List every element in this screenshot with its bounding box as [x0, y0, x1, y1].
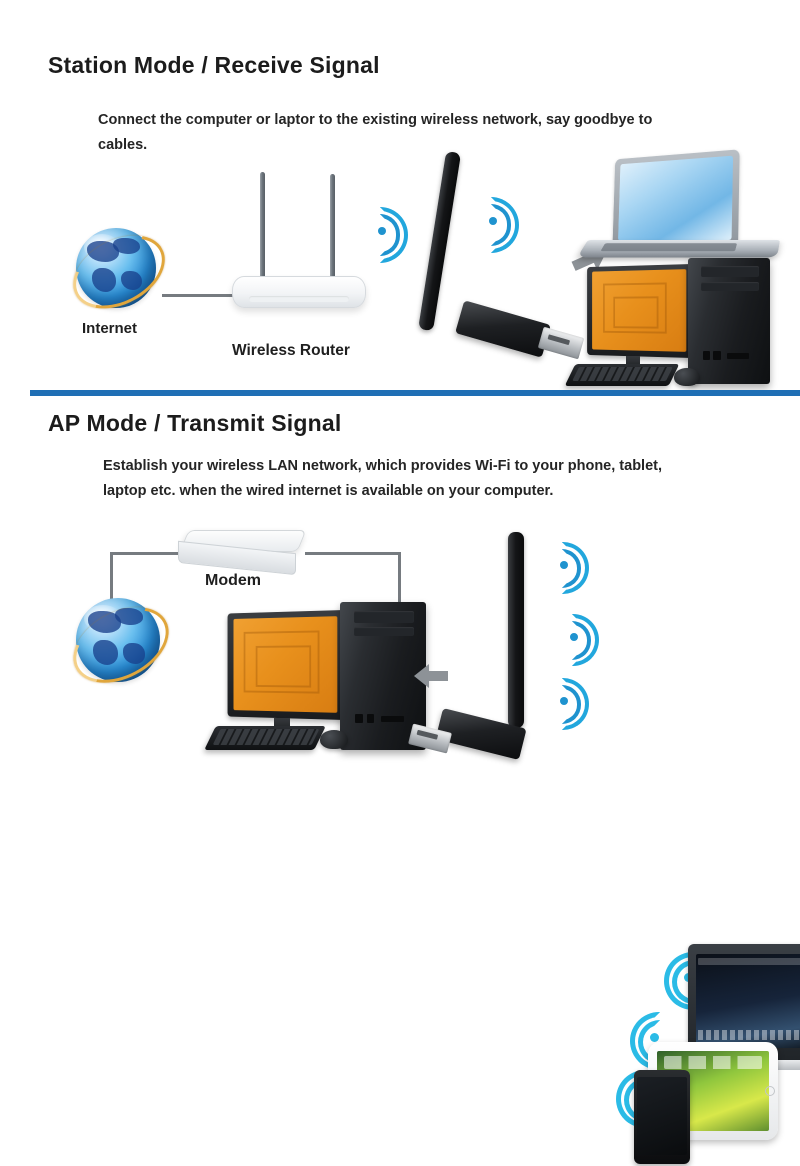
laptop-screen — [618, 156, 733, 241]
desktop-computer — [570, 258, 796, 388]
wifi-signal-devices-top — [646, 952, 690, 1002]
wire-modem-to-pc — [305, 552, 401, 555]
wireless-router — [232, 172, 364, 302]
wifi-signal-adapter-top — [560, 542, 600, 588]
mouse-ap — [320, 730, 348, 749]
router-antenna-left — [260, 172, 265, 282]
label-internet: Internet — [82, 320, 137, 337]
section-body-ap: Establish your wireless LAN network, whi… — [103, 454, 663, 504]
adapter-antenna-ap — [508, 532, 524, 728]
modem — [172, 530, 308, 576]
wifi-signal-adapter-middle — [570, 614, 610, 660]
adapter-body — [455, 300, 551, 357]
laptop — [578, 148, 794, 266]
wifi-signal-adapter-bottom — [560, 678, 600, 724]
monitor-screen — [592, 269, 686, 352]
keyboard — [565, 364, 680, 386]
globe-internet-icon — [70, 222, 162, 314]
section-ap-mode: AP Mode / Transmit Signal Establish your… — [0, 392, 800, 800]
monitor-screen-ap — [233, 616, 337, 713]
mouse — [674, 368, 700, 386]
router-antenna-right — [330, 174, 335, 282]
adapter-antenna — [418, 151, 461, 331]
computer-tower — [688, 258, 770, 384]
phone-screen — [637, 1077, 687, 1155]
wire-internet-to-router — [162, 294, 234, 297]
router-body — [232, 276, 366, 308]
usb-wifi-adapter — [400, 150, 580, 370]
globe-internet-icon-ap — [70, 592, 166, 688]
label-wireless-router: Wireless Router — [232, 342, 350, 360]
label-modem: Modem — [205, 572, 261, 590]
keyboard-ap — [204, 726, 326, 750]
usb-wifi-adapter-ap — [400, 532, 550, 762]
section-station-mode: Station Mode / Receive Signal Connect th… — [0, 0, 800, 392]
smartphone — [634, 1070, 690, 1166]
section-heading-station: Station Mode / Receive Signal — [48, 52, 380, 79]
section-heading-ap: AP Mode / Transmit Signal — [48, 410, 341, 437]
